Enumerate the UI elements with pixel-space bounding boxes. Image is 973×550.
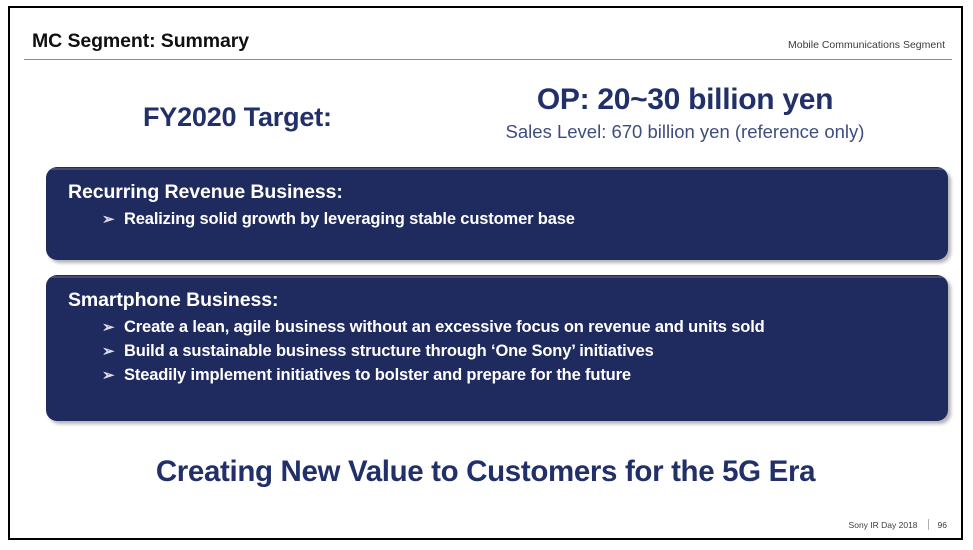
segment-label: Mobile Communications Segment xyxy=(788,39,945,51)
sales-level-value: Sales Level: 670 billion yen (reference … xyxy=(450,119,920,145)
list-item: ➢ Realizing solid growth by leveraging s… xyxy=(68,208,930,231)
slide-header: MC Segment: Summary Mobile Communication… xyxy=(10,8,961,60)
slide-footer: Sony IR Day 2018 96 xyxy=(849,519,947,530)
list-item: ➢ Steadily implement initiatives to bols… xyxy=(68,364,930,387)
bullet-list-smartphone: ➢ Create a lean, agile business without … xyxy=(68,316,930,387)
bullet-list-recurring: ➢ Realizing solid growth by leveraging s… xyxy=(68,208,930,231)
operating-profit-value: OP: 20~30 billion yen xyxy=(450,82,920,118)
list-item-text: Realizing solid growth by leveraging sta… xyxy=(124,210,575,228)
fy-target-row: FY2020 Target: OP: 20~30 billion yen Sal… xyxy=(10,82,961,152)
list-item: ➢ Create a lean, agile business without … xyxy=(68,316,930,339)
fy-target-label: FY2020 Target: xyxy=(143,102,332,133)
operating-profit-block: OP: 20~30 billion yen Sales Level: 670 b… xyxy=(450,82,920,145)
footer-event-label: Sony IR Day 2018 xyxy=(849,520,918,530)
smartphone-business-box: Smartphone Business: ➢ Create a lean, ag… xyxy=(46,275,948,421)
footer-page-number: 96 xyxy=(938,520,947,530)
list-item-text: Create a lean, agile business without an… xyxy=(124,318,765,336)
box-heading-recurring: Recurring Revenue Business: xyxy=(68,179,930,205)
list-item-text: Steadily implement initiatives to bolste… xyxy=(124,366,631,384)
slide-frame: MC Segment: Summary Mobile Communication… xyxy=(8,6,963,540)
arrow-bullet-icon: ➢ xyxy=(102,364,114,387)
recurring-revenue-business-box: Recurring Revenue Business: ➢ Realizing … xyxy=(46,167,948,260)
box-heading-smartphone: Smartphone Business: xyxy=(68,287,930,313)
footer-divider xyxy=(928,519,929,530)
list-item: ➢ Build a sustainable business structure… xyxy=(68,340,930,363)
arrow-bullet-icon: ➢ xyxy=(102,208,114,231)
closing-headline: Creating New Value to Customers for the … xyxy=(10,455,961,489)
list-item-text: Build a sustainable business structure t… xyxy=(124,342,654,360)
header-divider xyxy=(24,59,952,60)
arrow-bullet-icon: ➢ xyxy=(102,316,114,339)
page-title: MC Segment: Summary xyxy=(32,30,249,53)
arrow-bullet-icon: ➢ xyxy=(102,340,114,363)
